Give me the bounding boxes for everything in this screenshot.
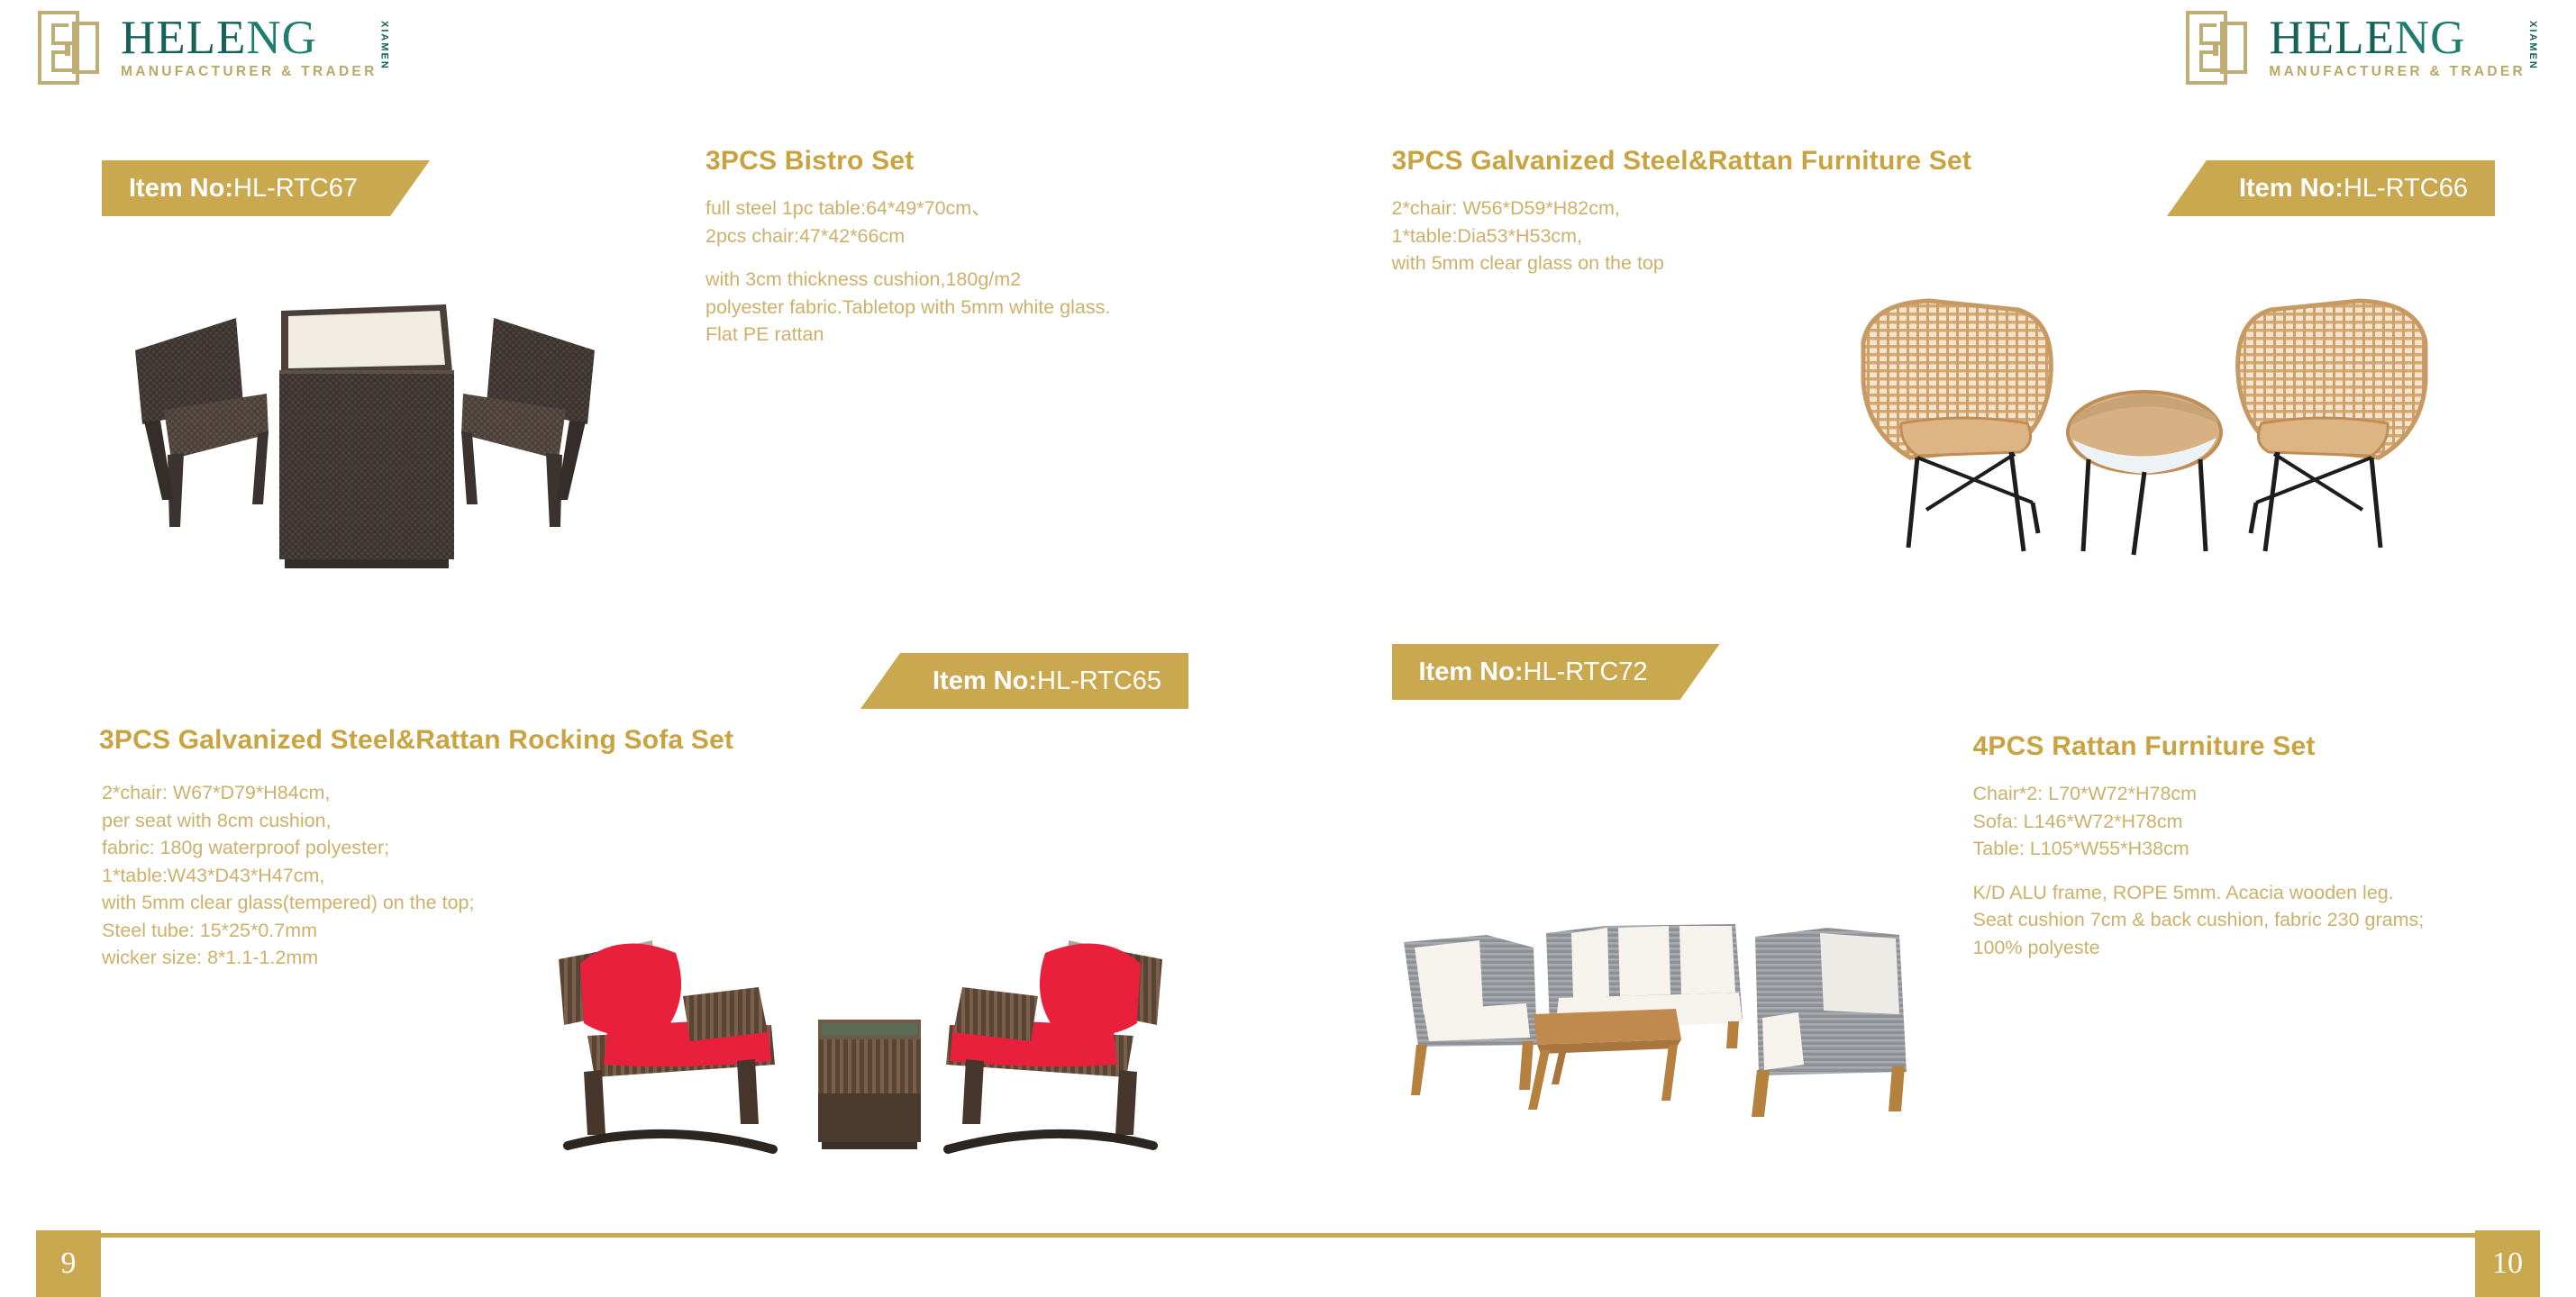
product-photo-bistro-set [108, 275, 622, 590]
product-title-0: 3PCS Bistro Set [705, 146, 914, 177]
brand-name: HELENG [121, 15, 378, 60]
product-title-2: 3PCS Galvanized Steel&Rattan Rocking Sof… [99, 725, 733, 756]
desc-line: Chair*2: L70*W72*H78cm [1973, 780, 2425, 808]
brand-name-part1: HELE [2269, 12, 2394, 64]
item-badge-label: Item No: [2239, 174, 2344, 204]
product-photo-rocking-sofa-set [532, 910, 1189, 1189]
item-badge-hl-rtc67[interactable]: Item No:HL-RTC67 [102, 160, 430, 216]
desc-line: with 5mm clear glass(tempered) on the to… [102, 889, 474, 917]
brand-logo-left: HELENG MANUFACTURER & TRADER XIAMEN [38, 11, 390, 85]
brand-name-part2: NG [2395, 12, 2466, 64]
desc-line: with 5mm clear glass on the top [1392, 249, 1664, 277]
desc-line: 2pcs chair:47*42*66cm [705, 222, 1110, 250]
desc-line: K/D ALU frame, ROPE 5mm. Acacia wooden l… [1973, 879, 2425, 907]
item-badge-label: Item No: [1419, 658, 1524, 687]
brand-logo-right: HELENG MANUFACTURER & TRADER XIAMEN [2186, 11, 2538, 85]
item-badge-hl-rtc65[interactable]: Item No:HL-RTC65 [860, 653, 1188, 709]
desc-line: 1*table:Dia53*H53cm, [1392, 222, 1664, 250]
product-desc-block: full steel 1pc table:64*49*70cm、 2pcs ch… [705, 195, 1110, 249]
heleng-monogram-icon [38, 11, 110, 85]
brand-tagline: MANUFACTURER & TRADER [2269, 64, 2526, 80]
item-badge-hl-rtc72[interactable]: Item No:HL-RTC72 [1392, 644, 1720, 700]
desc-line: full steel 1pc table:64*49*70cm、 [705, 195, 1110, 222]
item-badge-code: HL-RTC65 [1037, 667, 1161, 696]
product-title-1: 3PCS Galvanized Steel&Rattan Furniture S… [1392, 146, 1972, 177]
product-title-3: 4PCS Rattan Furniture Set [1973, 731, 2316, 762]
desc-line: with 3cm thickness cushion,180g/m2 [705, 266, 1110, 294]
product-desc-block: Chair*2: L70*W72*H78cm Sofa: L146*W72*H7… [1973, 780, 2425, 863]
desc-line: Seat cushion 7cm & back cushion, fabric … [1973, 906, 2425, 934]
item-badge-hl-rtc66[interactable]: Item No:HL-RTC66 [2167, 160, 2495, 216]
item-badge-label: Item No: [933, 667, 1037, 696]
footer-rule-left [97, 1233, 1288, 1238]
product-desc-3: Chair*2: L70*W72*H78cm Sofa: L146*W72*H7… [1973, 780, 2425, 961]
desc-line: 100% polyeste [1973, 934, 2425, 962]
desc-line: wicker size: 8*1.1-1.2mm [102, 944, 474, 972]
product-desc-block: K/D ALU frame, ROPE 5mm. Acacia wooden l… [1973, 879, 2425, 962]
product-photo-rattan-chairs [1847, 288, 2442, 567]
product-desc-0: full steel 1pc table:64*49*70cm、 2pcs ch… [705, 195, 1110, 349]
desc-line: Table: L105*W55*H38cm [1973, 835, 2425, 863]
product-desc-1: 2*chair: W56*D59*H82cm, 1*table:Dia53*H5… [1392, 195, 1664, 277]
desc-line: Flat PE rattan [705, 321, 1110, 349]
brand-name-part2: NG [246, 12, 317, 64]
product-photo-rope-sofa-set [1379, 910, 1937, 1117]
item-badge-code: HL-RTC72 [1524, 658, 1648, 687]
desc-line: fabric: 180g waterproof polyester; [102, 834, 474, 862]
catalog-page-right: HELENG MANUFACTURER & TRADER XIAMEN Item… [1288, 0, 2576, 1297]
desc-line: 2*chair: W56*D59*H82cm, [1392, 195, 1664, 222]
heleng-monogram-icon [2186, 11, 2258, 85]
brand-name: HELENG [2269, 15, 2526, 60]
desc-line: Steel tube: 15*25*0.7mm [102, 917, 474, 945]
item-badge-code: HL-RTC67 [233, 174, 358, 204]
catalog-spread: HELENG MANUFACTURER & TRADER XIAMEN Item… [0, 0, 2576, 1297]
page-number-left: 9 [36, 1230, 101, 1297]
product-desc-block: 2*chair: W67*D79*H84cm, per seat with 8c… [102, 779, 474, 972]
item-badge-code: HL-RTC66 [2344, 174, 2468, 204]
desc-line: 1*table:W43*D43*H47cm, [102, 862, 474, 890]
page-number-right: 10 [2475, 1230, 2540, 1297]
catalog-page-left: HELENG MANUFACTURER & TRADER XIAMEN Item… [0, 0, 1288, 1297]
product-desc-block: with 3cm thickness cushion,180g/m2 polye… [705, 266, 1110, 349]
desc-line: Sofa: L146*W72*H78cm [1973, 808, 2425, 836]
desc-line: 2*chair: W67*D79*H84cm, [102, 779, 474, 807]
item-badge-label: Item No: [129, 174, 233, 204]
brand-name-part1: HELE [121, 12, 246, 64]
desc-line: polyester fabric.Tabletop with 5mm white… [705, 294, 1110, 322]
footer-rule-right [1288, 1233, 2480, 1238]
brand-tagline: MANUFACTURER & TRADER [121, 64, 378, 80]
product-desc-block: 2*chair: W56*D59*H82cm, 1*table:Dia53*H5… [1392, 195, 1664, 277]
product-desc-2: 2*chair: W67*D79*H84cm, per seat with 8c… [102, 779, 474, 972]
desc-line: per seat with 8cm cushion, [102, 807, 474, 835]
brand-location: XIAMEN [379, 21, 390, 70]
brand-location: XIAMEN [2527, 21, 2538, 70]
